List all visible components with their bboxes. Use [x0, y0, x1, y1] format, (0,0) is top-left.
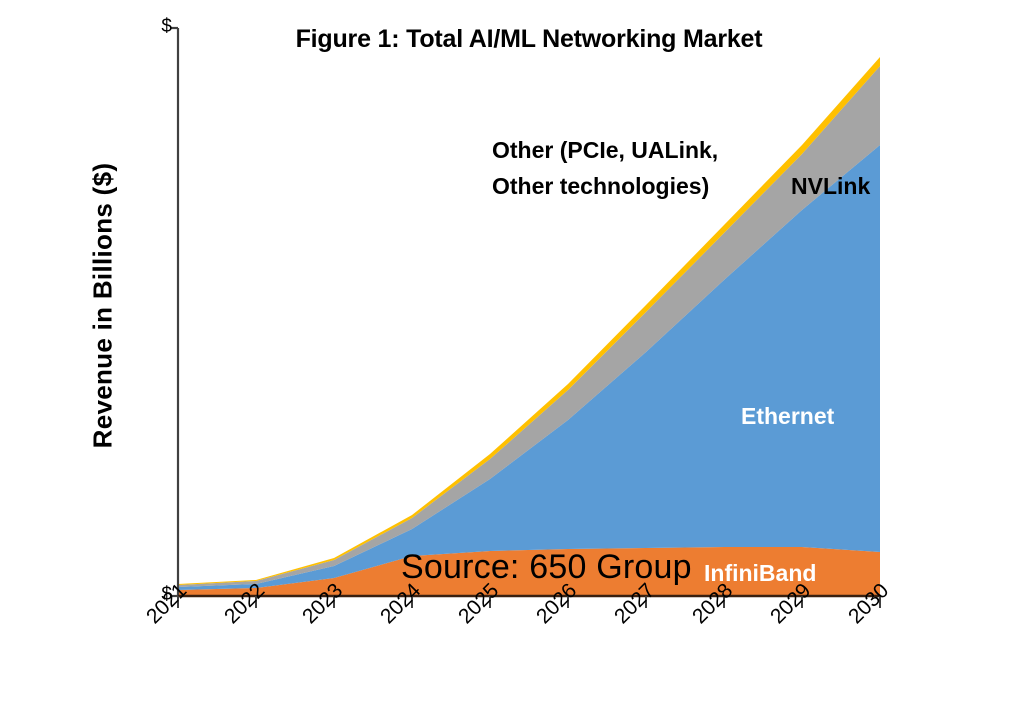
ethernet-series-annotation: Ethernet [741, 403, 834, 430]
chart-figure: Figure 1: Total AI/ML Networking Market … [0, 0, 1024, 707]
infiniband-series-annotation: InfiniBand [704, 560, 816, 587]
source-annotation: Source: 650 Group [401, 548, 692, 587]
other-series-annotation: Other (PCIe, UALink, Other technologies) [492, 132, 718, 204]
other-series-annotation-line1: Other (PCIe, UALink, [492, 132, 718, 168]
other-series-annotation-line2: Other technologies) [492, 168, 718, 204]
chart-title: Figure 1: Total AI/ML Networking Market [178, 25, 880, 54]
y-axis-title: Revenue in Billions ($) [88, 141, 119, 471]
y-axis-tick-label-top: $ [146, 16, 172, 38]
nvlink-series-annotation: NVLink [791, 173, 870, 200]
